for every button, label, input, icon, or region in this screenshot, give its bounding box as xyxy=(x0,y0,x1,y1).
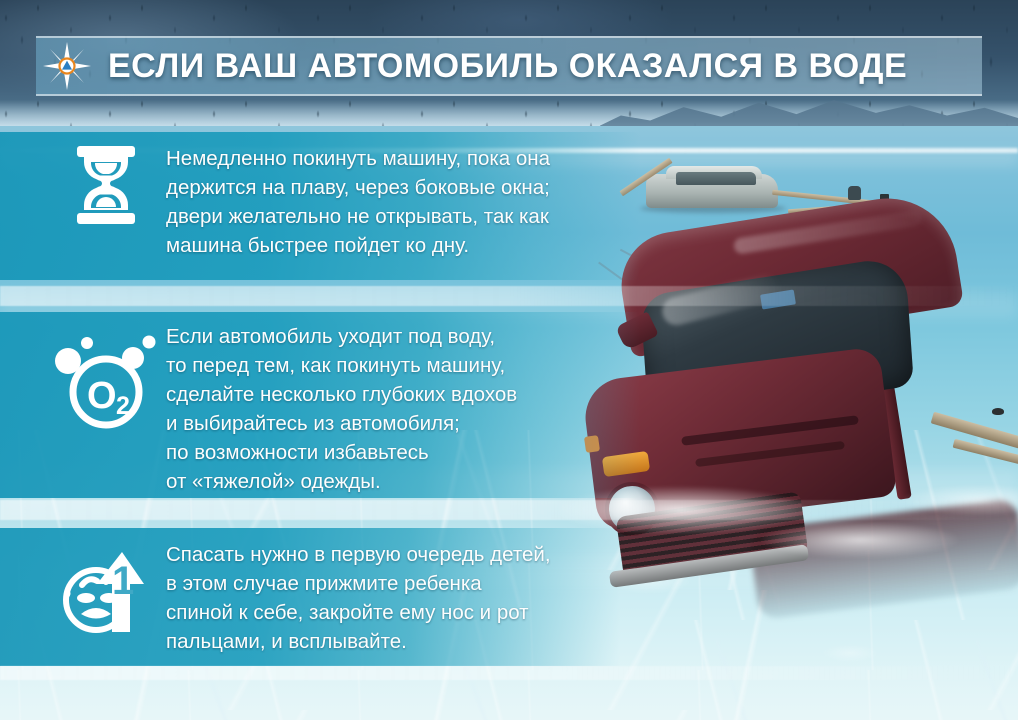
tip-panel-1: Немедленно покинуть машину, пока она дер… xyxy=(0,132,640,280)
tip-2-icon-slot: O 2 xyxy=(46,312,166,430)
emercom-star-emblem xyxy=(36,36,98,96)
distant-person xyxy=(848,186,861,200)
eight-point-star-icon xyxy=(43,42,91,90)
minivan-windows xyxy=(676,172,756,185)
oxygen-o2-icon: O 2 xyxy=(54,334,158,430)
hourglass-icon xyxy=(75,146,137,224)
tip-3-icon-slot: 1 xyxy=(46,528,166,636)
page-title: ЕСЛИ ВАШ АВТОМОБИЛЬ ОКАЗАЛСЯ В ВОДЕ xyxy=(108,49,907,83)
tip-1-icon-slot xyxy=(46,132,166,224)
tip-2-text: Если автомобиль уходит под воду, то пере… xyxy=(166,312,517,496)
tip-panel-2: O 2 Если автомобиль уходит под воду, то … xyxy=(0,312,640,498)
priority-number-label: 1 xyxy=(112,559,134,603)
o2-subscript-2: 2 xyxy=(116,392,130,420)
panel-separator xyxy=(0,286,1018,306)
panel-separator xyxy=(0,500,1018,520)
tip-1-text: Немедленно покинуть машину, пока она дер… xyxy=(166,132,550,260)
crying-child-arrow-up-icon: 1 xyxy=(54,544,158,636)
infographic-poster: ЕСЛИ ВАШ АВТОМОБИЛЬ ОКАЗАЛСЯ В ВОДЕ Неме… xyxy=(0,0,1018,720)
o2-letter-o: O xyxy=(87,375,117,417)
distant-bird xyxy=(992,408,1004,415)
tip-3-text: Спасать нужно в первую очередь детей, в … xyxy=(166,528,551,656)
panel-separator xyxy=(0,666,1018,680)
tip-panel-3: 1 Спасать нужно в первую очередь детей, … xyxy=(0,528,620,666)
title-bar: ЕСЛИ ВАШ АВТОМОБИЛЬ ОКАЗАЛСЯ В ВОДЕ xyxy=(36,36,982,96)
